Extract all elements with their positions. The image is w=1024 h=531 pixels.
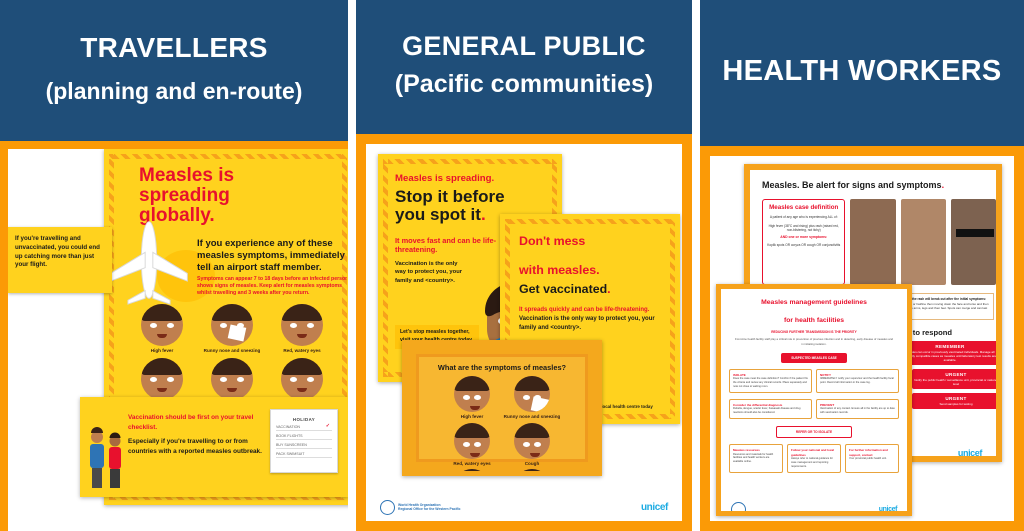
case-definition-row: Measles case definition A patient of any… xyxy=(762,199,996,285)
checklist-item-label: BOOK FLIGHTS xyxy=(276,434,303,438)
case-definition-line2: High fever (38°C and rising) plus rash (… xyxy=(767,224,840,233)
flow-start-node: SUSPECTED MEASLES CASE xyxy=(781,353,847,363)
banner-travellers-subtitle: (planning and en-route) xyxy=(46,78,303,105)
face-high-fever-icon xyxy=(141,304,183,346)
who-logo xyxy=(731,502,746,516)
case-definition-heading: Measles case definition xyxy=(767,204,840,211)
who-logo-text: World Health Organization Regional Offic… xyxy=(398,503,461,512)
callout-travel-text: If you're travelling and unvaccinated, y… xyxy=(8,227,112,278)
poster-body: Vaccination is the only way to protect y… xyxy=(395,260,465,285)
who-logo-subtitle: Regional Office for the Western Pacific xyxy=(398,507,461,511)
symptom-grid: High fever Runny nose and sneezing Red, … xyxy=(419,376,585,476)
poster-body-dark: Vaccination is the only way to protect y… xyxy=(519,316,655,331)
footer-card-heading: Follow your national and local guideline… xyxy=(791,448,837,457)
banner-travellers: TRAVELLERS (planning and en-route) xyxy=(0,0,348,141)
footer-card-heading: For further information and support, con… xyxy=(849,448,895,457)
flow-card-isolate: ISOLATE Does the case meet the case defi… xyxy=(729,369,812,393)
badge-label: REMEMBER xyxy=(902,344,998,349)
guidelines-title-line1: Measles management guidelines xyxy=(729,299,899,307)
symptom-item: High fever xyxy=(127,304,197,354)
symptom-item: Runny nose and sneezing xyxy=(502,376,562,420)
footer-card-body: Resources and materials for health facil… xyxy=(733,453,779,465)
check-icon: ✓ xyxy=(326,423,330,429)
badge-text: Measles can occur in previously vaccinat… xyxy=(902,350,998,362)
face-red-eyes-icon xyxy=(454,423,490,459)
sheet-health-workers: Measles. Be alert for signs and symptoms… xyxy=(710,156,1014,521)
case-definition-box: Measles case definition A patient of any… xyxy=(762,199,845,285)
symptom-label: Runny nose and sneezing xyxy=(504,414,561,420)
checklist-item-label: BUY SUNSCREEN xyxy=(276,443,307,447)
flow-card-notify: NOTIFY IMMEDIATELY notify your superviso… xyxy=(816,369,899,393)
travellers-illustration xyxy=(84,427,128,491)
symptom-item: High fever xyxy=(442,376,502,420)
symptom-item: Red, watery eyes xyxy=(442,423,502,467)
who-emblem-icon xyxy=(380,500,395,515)
poster-headline-line1: Stop it before xyxy=(395,188,557,206)
callout-travel-checklist[interactable]: Vaccination should be first on your trav… xyxy=(80,397,348,497)
face-rash-icon xyxy=(281,358,323,400)
symptom-item: Cough xyxy=(502,423,562,467)
flow-card-body: Rubella, dengue, scarlet fever, Kawasaki… xyxy=(733,407,808,415)
frame-health-workers: Measles. Be alert for signs and symptoms… xyxy=(700,146,1024,531)
badge-text: Send samples for testing xyxy=(914,402,998,406)
headline-period: . xyxy=(481,205,486,224)
column-general-public: GENERAL PUBLIC (Pacific communities) Mea… xyxy=(356,0,692,531)
symptoms-card-inner: What are the symptoms of measles? High f… xyxy=(416,354,588,462)
flow-card-body: IMMEDIATELY notify your supervisor and t… xyxy=(820,377,895,385)
footer-card-guidelines: Follow your national and local guideline… xyxy=(787,444,841,473)
symptom-label: Red, watery eyes xyxy=(283,348,320,354)
footer-card-body: Your provincial public health unit. xyxy=(849,457,895,461)
poster-title-line1: Measles is xyxy=(139,166,324,186)
symptom-item: Runny nose and sneezing xyxy=(197,304,267,354)
poster-body-red: It spreads quickly and can be life-threa… xyxy=(519,307,649,313)
callout-checklist-line1: Vaccination should be first on your trav… xyxy=(128,413,278,432)
flow-cards-row-2: Consider the differential diagnosis Rube… xyxy=(729,399,899,419)
poster-body: It spreads quickly and can be life-threa… xyxy=(519,306,665,333)
who-emblem-icon xyxy=(731,502,746,516)
banner-general-public-title: GENERAL PUBLIC xyxy=(402,31,646,62)
banner-health-workers: HEALTH WORKERS xyxy=(700,0,1024,146)
face-white-spots-icon xyxy=(454,469,490,476)
face-runny-nose-icon xyxy=(514,376,550,412)
sheet-general-public: Measles is spreading. Stop it before you… xyxy=(366,144,682,521)
badge-urgent-notify: URGENT Notify the public health / survei… xyxy=(912,369,1000,389)
flow-cards-row-1: ISOLATE Does the case meet the case defi… xyxy=(729,369,899,393)
flow-card-body: Does the case meet the case definition? … xyxy=(733,377,808,389)
poster-headline-line1: Don't mess xyxy=(519,235,675,248)
face-runny-nose-icon xyxy=(211,304,253,346)
poster-eyebrow: Measles is spreading. xyxy=(395,173,557,184)
unicef-logo: unicef xyxy=(879,506,897,513)
case-definition-line4: Koplik spots OR coryza OR cough OR conju… xyxy=(767,243,840,247)
badge-remember: REMEMBER Measles can occur in previously… xyxy=(900,341,1000,365)
guidelines-subtitle: REDUCING FURTHER TRANSMISSION IS THE PRI… xyxy=(731,330,897,334)
headline-period: . xyxy=(607,282,610,296)
poster-overview-board: TRAVELLERS (planning and en-route) Measl… xyxy=(0,0,1024,531)
symptom-label: High fever xyxy=(461,414,483,420)
poster-title: Measles. Be alert for signs and symptoms… xyxy=(762,180,996,190)
face-high-fever-icon xyxy=(454,376,490,412)
poster-fine-print: Symptoms can appear 7 to 18 days before … xyxy=(197,276,348,296)
face-rash-icon xyxy=(514,469,550,476)
poster-headline-line2: with measles. xyxy=(519,264,675,277)
symptom-item: White spots, inside mouth xyxy=(442,469,502,476)
face-cough-icon xyxy=(141,358,183,400)
poster-headline-line3: Get vaccinated. xyxy=(519,282,675,296)
checklist-item: BUY SUNSCREEN xyxy=(276,440,332,449)
case-definition-line3: AND one or more symptoms: xyxy=(767,235,840,239)
banner-general-public: GENERAL PUBLIC (Pacific communities) xyxy=(356,0,692,134)
footer-card-resources: Measles resources Resources and material… xyxy=(729,444,783,473)
holiday-checklist-card: HOLIDAY VACCINATION✓ BOOK FLIGHTS BUY SU… xyxy=(270,409,338,473)
column-travellers: TRAVELLERS (planning and en-route) Measl… xyxy=(0,0,348,531)
footer-card-body: Always refer to national guidance for ca… xyxy=(791,457,837,469)
callout-checklist-text: Vaccination should be first on your trav… xyxy=(128,413,278,456)
guidelines-intro: Front-line health facility staff play a … xyxy=(735,337,893,345)
face-red-eyes-icon xyxy=(281,304,323,346)
banner-travellers-title: TRAVELLERS xyxy=(80,32,268,64)
symptom-label: Cough xyxy=(525,461,540,467)
badge-text: Notify the public health / surveillance … xyxy=(914,378,998,386)
sheet-travellers: Measles is spreading globally. xyxy=(8,149,348,531)
badge-label: URGENT xyxy=(914,372,998,377)
poster-measles-management-guidelines[interactable]: Measles management guidelines for health… xyxy=(716,284,912,516)
airplane-icon xyxy=(104,214,197,306)
unicef-logo: unicef xyxy=(958,448,982,458)
logo-row-guidelines: unicef xyxy=(721,502,907,516)
badge-label: URGENT xyxy=(914,396,998,401)
symptom-label: Red, watery eyes xyxy=(453,461,490,467)
frame-general-public: Measles is spreading. Stop it before you… xyxy=(356,134,692,531)
footer-card-contact: For further information and support, con… xyxy=(845,444,899,473)
banner-health-workers-title: HEALTH WORKERS xyxy=(722,55,1001,88)
face-white-spots-icon xyxy=(211,358,253,400)
banner-general-public-subtitle: (Pacific communities) xyxy=(395,70,653,99)
case-definition-line1: A patient of any age who is experiencing… xyxy=(767,215,840,219)
checklist-item: PACK SWIMSUIT xyxy=(276,449,332,458)
checklist-item-label: VACCINATION xyxy=(276,425,300,429)
symptom-grid: High fever Runny nose and sneezing Red, … xyxy=(127,304,337,411)
flow-footer-row: Measles resources Resources and material… xyxy=(729,444,899,473)
clinical-photo-torso-rash xyxy=(901,199,946,285)
flow-card-body: Vaccination of any contact. Ensure all i… xyxy=(820,407,895,415)
flow-card-differential-diagnosis: Consider the differential diagnosis Rube… xyxy=(729,399,812,419)
symptoms-card-title: What are the symptoms of measles? xyxy=(419,363,585,372)
clinical-photo-back-rash xyxy=(850,199,895,285)
unicef-logo: unicef xyxy=(641,502,668,513)
flow-card-prevent: PREVENT Vaccination of any contact. Ensu… xyxy=(816,399,899,419)
callout-travel-unvaccinated[interactable]: If you're travelling and unvaccinated, y… xyxy=(8,227,112,293)
poster-symptoms-of-measles[interactable]: What are the symptoms of measles? High f… xyxy=(402,340,602,476)
clinical-photo-face-rash xyxy=(951,199,996,285)
poster-subhead: If you experience any of these measles s… xyxy=(197,238,345,274)
who-logo: World Health Organization Regional Offic… xyxy=(380,500,461,515)
column-health-workers: HEALTH WORKERS Measles. Be alert for sig… xyxy=(700,0,1024,531)
guidelines-title-line2: for health facilities xyxy=(729,317,899,325)
symptom-item: Red, watery eyes xyxy=(267,304,337,354)
poster-title-line2: spreading xyxy=(139,186,324,206)
logo-row-general-public: World Health Organization Regional Offic… xyxy=(366,495,682,519)
symptom-item: Rash xyxy=(502,469,562,476)
title-period: . xyxy=(942,180,945,190)
frame-travellers: Measles is spreading globally. xyxy=(0,141,348,531)
checklist-item-label: PACK SWIMSUIT xyxy=(276,452,305,456)
badge-urgent-samples: URGENT Send samples for testing xyxy=(912,393,1000,409)
symptom-label: Runny nose and sneezing xyxy=(204,348,261,354)
checklist-item: BOOK FLIGHTS xyxy=(276,431,332,440)
checklist-item: VACCINATION✓ xyxy=(276,422,332,431)
callout-checklist-line2: Especially if you're travelling to or fr… xyxy=(128,437,278,456)
symptom-label: High fever xyxy=(151,348,173,354)
flow-end-node: REFER OR TO ISOLATE xyxy=(776,426,852,438)
privacy-bar xyxy=(956,229,994,237)
face-cough-icon xyxy=(514,423,550,459)
